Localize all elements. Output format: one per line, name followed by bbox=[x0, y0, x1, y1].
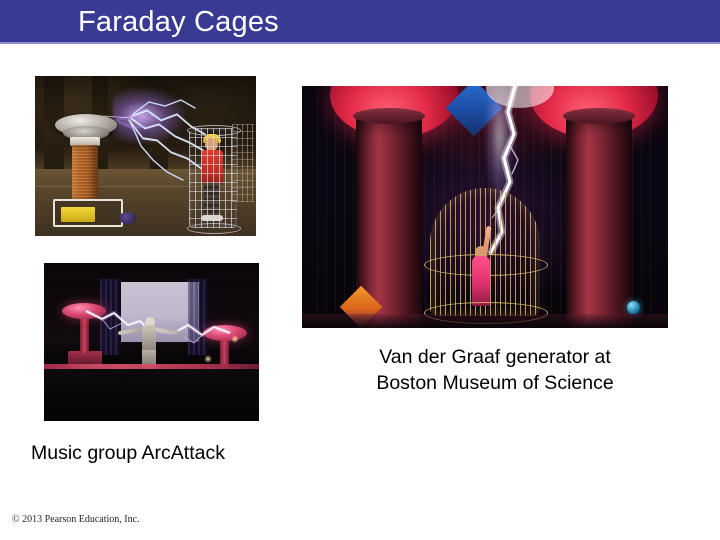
caption-arcattack: Music group ArcAttack bbox=[31, 440, 225, 466]
stage-foreground bbox=[44, 369, 259, 421]
caption-line-1: Van der Graaf generator at bbox=[330, 344, 660, 370]
tesla-coil-winding bbox=[72, 145, 98, 201]
image-arcattack-performance bbox=[44, 263, 259, 421]
caption-line-2: Boston Museum of Science bbox=[330, 370, 660, 396]
tesla-scene bbox=[35, 76, 256, 236]
faraday-cage-mesh bbox=[189, 128, 237, 228]
plasma-globe-icon bbox=[627, 301, 640, 314]
page-title: Faraday Cages bbox=[78, 5, 279, 39]
equipment-box bbox=[61, 207, 95, 222]
person-in-cage bbox=[472, 256, 490, 306]
stage-light-icon bbox=[204, 355, 212, 363]
stage-light-icon bbox=[231, 335, 239, 343]
image-tesla-coil-faraday-cage bbox=[35, 76, 256, 236]
caption-van-de-graaff: Van der Graaf generator at Boston Museum… bbox=[330, 344, 660, 396]
slide-title-bar: Faraday Cages bbox=[0, 0, 720, 44]
arcattack-scene bbox=[44, 263, 259, 421]
image-van-de-graaff-theater bbox=[302, 86, 668, 328]
vandegraaf-scene bbox=[302, 86, 668, 328]
cage-bottom-ring bbox=[187, 223, 241, 234]
theater-floor bbox=[302, 314, 668, 328]
copyright-notice: © 2013 Pearson Education, Inc. bbox=[12, 513, 140, 526]
performer-faraday-suit bbox=[142, 325, 156, 351]
ground-equipment bbox=[119, 212, 136, 224]
